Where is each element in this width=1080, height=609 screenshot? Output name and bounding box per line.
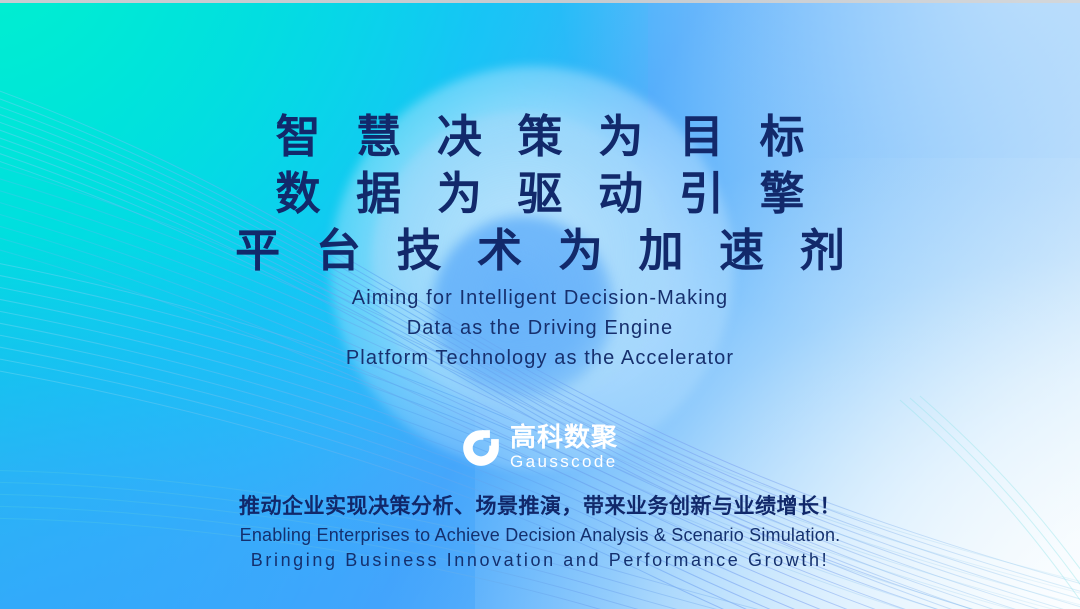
brand-name-en: Gausscode [510, 452, 618, 471]
headline-line-3: 平 台 技 术 为 加 速 剂 [225, 222, 855, 279]
subheadline-line-1: Aiming for Intelligent Decision-Making [346, 283, 734, 313]
subheadline-block: Aiming for Intelligent Decision-Making D… [346, 283, 734, 373]
brand-name-cn: 高科数聚 [510, 425, 618, 452]
poster-content: 智 慧 决 策 为 目 标 数 据 为 驱 动 引 擎 平 台 技 术 为 加 … [0, 0, 1080, 609]
brand-logo-text: 高科数聚 Gausscode [510, 425, 618, 471]
gausscode-logo-mark-icon [462, 429, 500, 467]
subheadline-line-3: Platform Technology as the Accelerator [346, 343, 734, 373]
headline-line-1: 智 慧 决 策 为 目 标 [225, 108, 855, 165]
footer-tagline-en-1: Enabling Enterprises to Achieve Decision… [239, 523, 841, 548]
footer-tagline-en-2: Bringing Business Innovation and Perform… [239, 548, 841, 573]
footer-block: 推动企业实现决策分析、场景推演，带来业务创新与业绩增长！ Enabling En… [239, 491, 841, 573]
brand-logo: 高科数聚 Gausscode [462, 425, 618, 471]
footer-tagline-cn: 推动企业实现决策分析、场景推演，带来业务创新与业绩增长！ [239, 491, 841, 521]
marketing-poster: 智 慧 决 策 为 目 标 数 据 为 驱 动 引 擎 平 台 技 术 为 加 … [0, 0, 1080, 609]
headline-block: 智 慧 决 策 为 目 标 数 据 为 驱 动 引 擎 平 台 技 术 为 加 … [225, 108, 855, 279]
headline-line-2: 数 据 为 驱 动 引 擎 [225, 165, 855, 222]
top-edge-strip [0, 0, 1080, 3]
subheadline-line-2: Data as the Driving Engine [346, 313, 734, 343]
